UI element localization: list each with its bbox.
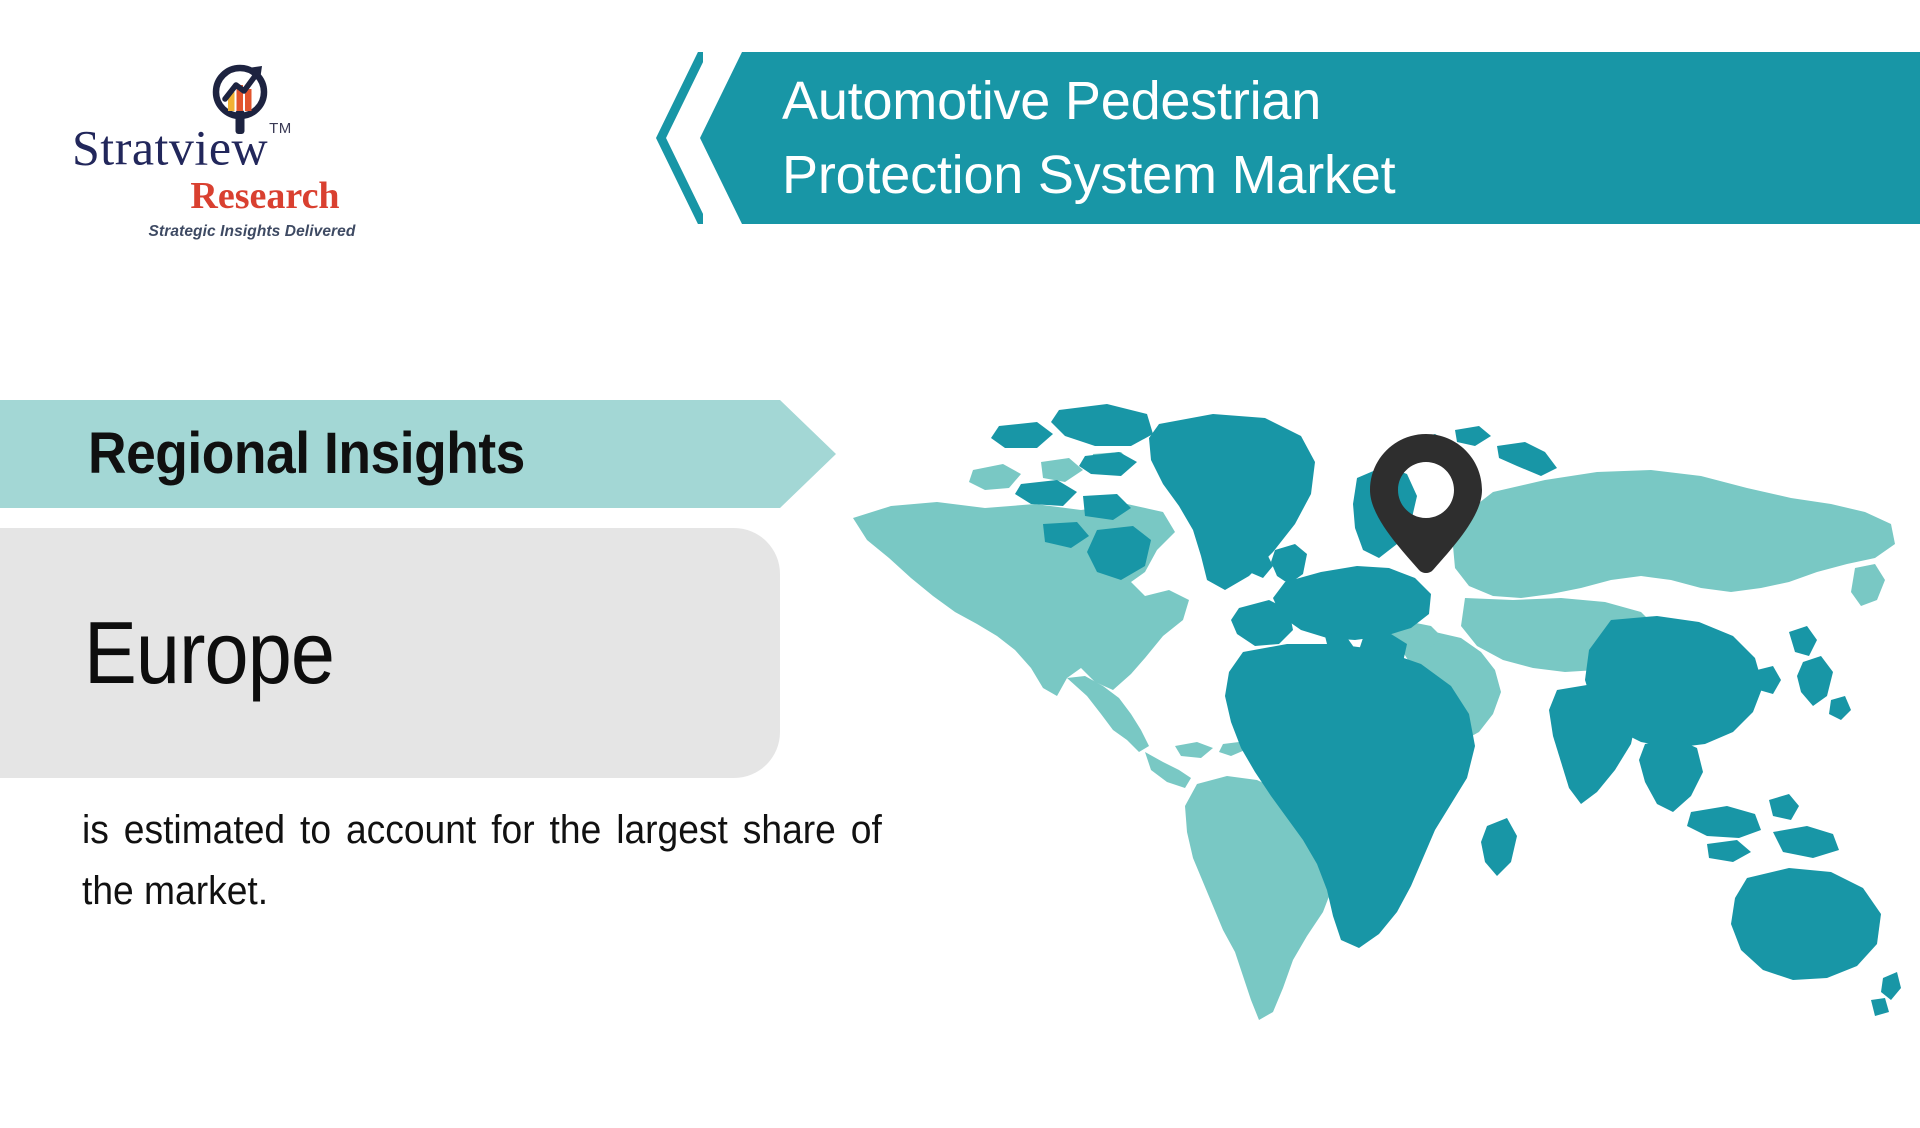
region-name-label: Europe <box>84 605 334 701</box>
logo-tagline: Strategic Insights Delivered <box>72 223 382 241</box>
section-heading-label: Regional Insights <box>88 424 525 484</box>
page-title-line-2: Protection System Market <box>782 138 1920 212</box>
page-title-line-1: Automotive Pedestrian <box>782 64 1920 138</box>
trademark-symbol: TM <box>269 120 292 137</box>
section-heading-banner: Regional Insights <box>0 400 836 508</box>
logo-name-secondary: Research <box>72 175 382 217</box>
region-highlight-box: Europe <box>0 528 780 778</box>
region-description-text: is estimated to account for the largest … <box>82 800 882 922</box>
page-title-banner: Automotive Pedestrian Protection System … <box>700 52 1920 224</box>
chevron-left-icon <box>655 52 703 224</box>
logo-name-primary: StratviewTM <box>72 116 291 175</box>
infographic-canvas: StratviewTM Research Strategic Insights … <box>0 0 1920 1128</box>
map-pin-icon <box>1364 430 1488 576</box>
logo-wordmark: StratviewTM Research Strategic Insights … <box>72 116 382 241</box>
brand-logo: StratviewTM Research Strategic Insights … <box>72 58 382 218</box>
